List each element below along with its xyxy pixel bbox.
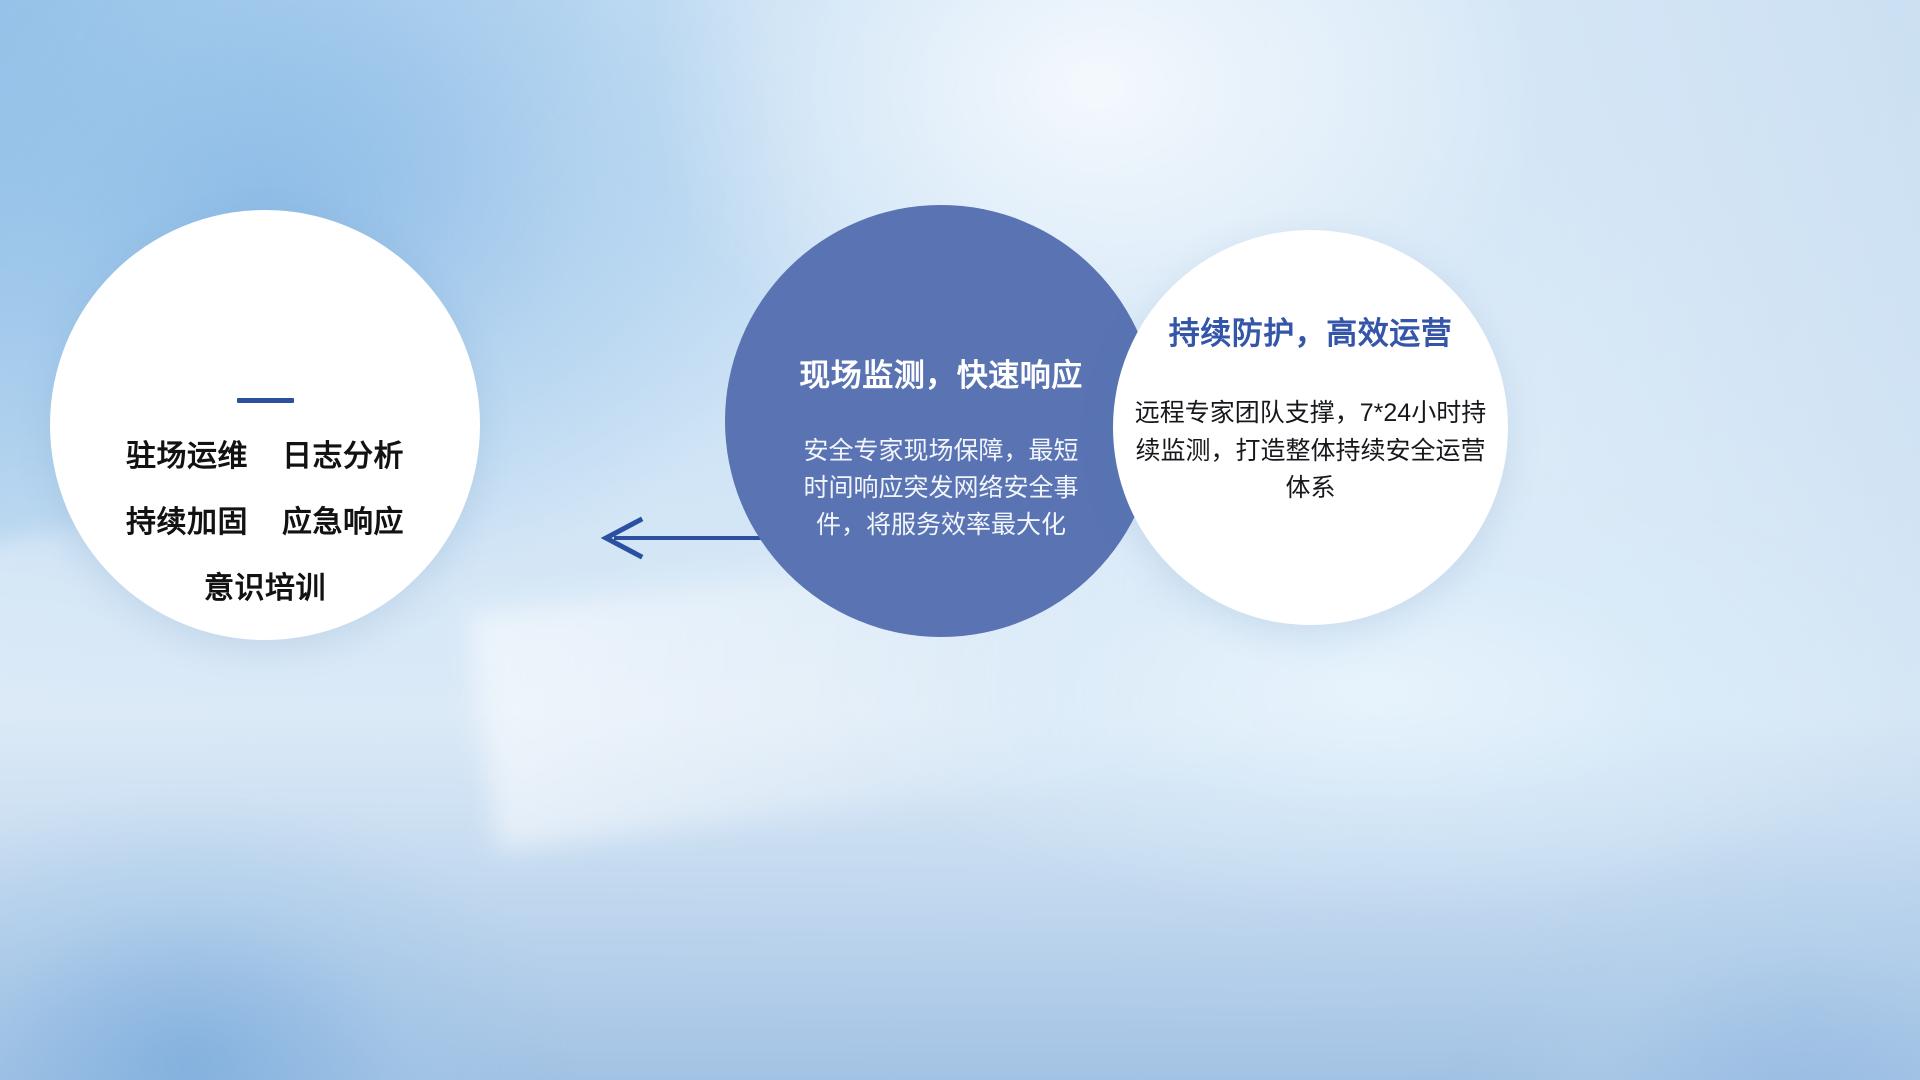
keyword-item: 持续加固 [126, 497, 248, 541]
keyword-item: 驻场运维 [126, 431, 248, 475]
capability-circle-middle[interactable]: 现场监测，快速响应 安全专家现场保障，最短时间响应突发网络安全事件，将服务效率最… [725, 205, 1157, 637]
keyword-row: 意识培训 [204, 563, 326, 607]
keyword-item: 意识培训 [204, 563, 326, 607]
keyword-item: 日志分析 [282, 431, 404, 475]
diagram-canvas: 驻场运维 日志分析 持续加固 应急响应 意识培训 现场监测，快速响应 安全专家现… [0, 0, 1920, 1080]
accent-dash-icon [237, 398, 294, 403]
keyword-row: 驻场运维 日志分析 [126, 431, 404, 475]
circle-right-title: 持续防护，高效运营 [1169, 308, 1453, 353]
circle-right-body: 远程专家团队支撑，7*24小时持续监测，打造整体持续安全运营体系 [1135, 395, 1487, 508]
capability-circle-right[interactable]: 持续防护，高效运营 远程专家团队支撑，7*24小时持续监测，打造整体持续安全运营… [1113, 230, 1508, 625]
keyword-item: 应急响应 [282, 497, 404, 541]
keyword-row: 持续加固 应急响应 [126, 497, 404, 541]
capability-circle-left[interactable]: 驻场运维 日志分析 持续加固 应急响应 意识培训 [50, 210, 480, 640]
circle-middle-title: 现场监测，快速响应 [799, 350, 1083, 395]
keyword-list: 驻场运维 日志分析 持续加固 应急响应 意识培训 [126, 431, 404, 607]
circle-middle-body: 安全专家现场保障，最短时间响应突发网络安全事件，将服务效率最大化 [796, 433, 1086, 544]
